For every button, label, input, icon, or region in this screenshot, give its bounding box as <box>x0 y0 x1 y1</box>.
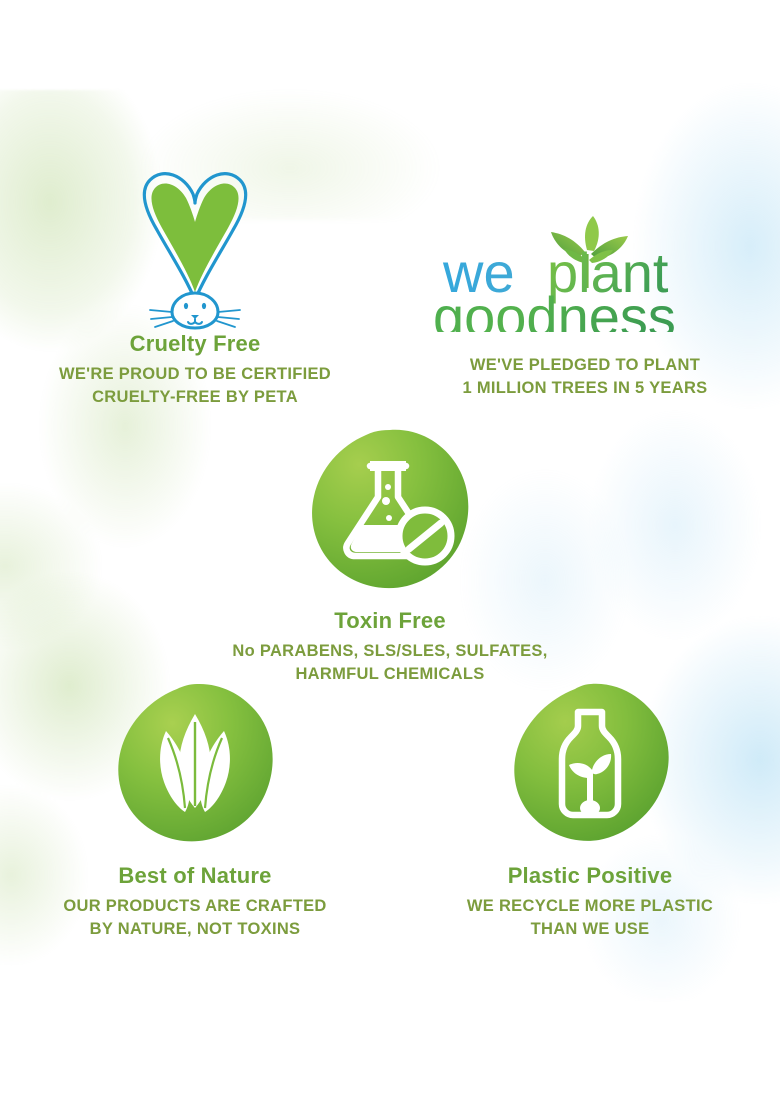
flask-bubble-2 <box>382 497 390 505</box>
watercolor-blob <box>312 430 468 588</box>
watercolor-disc-best-of-nature <box>111 680 279 848</box>
bunny-left-whiskers <box>150 310 173 327</box>
badge-title-toxin-free: Toxin Free <box>195 609 585 633</box>
badge-desc-line-1: WE'VE PLEDGED TO PLANT <box>470 356 700 374</box>
flask-bubble-1 <box>385 484 391 490</box>
flask-no-symbol-icon <box>306 425 474 593</box>
badges-container: Cruelty Free WE'RE PROUD TO BE CERTIFIED… <box>0 0 780 1108</box>
badge-description-best-of-nature: OUR PRODUCTS ARE CRAFTED BY NATURE, NOT … <box>5 895 385 941</box>
watercolor-disc-toxin-free <box>306 425 474 593</box>
badge-best-of-nature: Best of Nature OUR PRODUCTS ARE CRAFTED … <box>5 680 385 941</box>
peta-bunny-heart-icon-wrap <box>0 160 390 332</box>
three-leaves-icon <box>111 680 279 848</box>
badge-desc-line-1: OUR PRODUCTS ARE CRAFTED <box>63 897 326 915</box>
flask-neck-cap <box>370 461 406 471</box>
badge-title-plastic-positive: Plastic Positive <box>400 864 780 888</box>
badge-title-cruelty-free: Cruelty Free <box>0 332 390 356</box>
badge-desc-prefix: No <box>232 642 259 660</box>
bottle-sprout-icon <box>506 680 674 848</box>
bunny-left-eye <box>184 303 188 309</box>
badge-plastic-positive: Plastic Positive WE RECYCLE MORE PLASTIC… <box>400 680 780 941</box>
badge-title-best-of-nature: Best of Nature <box>5 864 385 888</box>
badge-desc-line-2: CRUELTY-FREE BY PETA <box>92 388 298 406</box>
badge-description-toxin-free: No PARABENS, SLS/SLES, SULFATES, HARMFUL… <box>195 640 585 686</box>
we-plant-goodness-logo-wrap: we plant goodness <box>390 210 780 332</box>
badge-desc-line-2: 1 MILLION TREES IN 5 YEARS <box>463 379 708 397</box>
badge-desc-line-1: WE RECYCLE MORE PLASTIC <box>467 897 713 915</box>
peta-bunny-heart-icon <box>110 160 280 332</box>
badge-desc-line-1: WE'RE PROUD TO BE CERTIFIED <box>59 365 331 383</box>
badge-desc-line-2: BY NATURE, NOT TOXINS <box>90 920 301 938</box>
badge-cruelty-free: Cruelty Free WE'RE PROUD TO BE CERTIFIED… <box>0 160 390 409</box>
flask-bubble-3 <box>386 515 392 521</box>
badge-description-cruelty-free: WE'RE PROUD TO BE CERTIFIED CRUELTY-FREE… <box>0 363 390 409</box>
brand-promise-poster: Cruelty Free WE'RE PROUD TO BE CERTIFIED… <box>0 0 780 1108</box>
plastic-positive-icon-wrap <box>400 680 780 848</box>
watercolor-disc-plastic-positive <box>506 680 674 848</box>
sprout-base <box>580 800 600 816</box>
badge-plant-goodness: we plant goodness WE'VE PLEDGED TO PLANT… <box>390 210 780 400</box>
badge-toxin-free: Toxin Free No PARABENS, SLS/SLES, SULFAT… <box>195 425 585 686</box>
badge-description-plastic-positive: WE RECYCLE MORE PLASTIC THAN WE USE <box>400 895 780 941</box>
toxin-free-icon-wrap <box>195 425 585 593</box>
best-of-nature-icon-wrap <box>5 680 385 848</box>
badge-desc-line-2: THAN WE USE <box>531 920 650 938</box>
we-plant-goodness-logo: we plant goodness <box>425 210 745 332</box>
badge-description-plant-goodness: WE'VE PLEDGED TO PLANT 1 MILLION TREES I… <box>390 354 780 400</box>
badge-desc-line-1: PARABENS, SLS/SLES, SULFATES, <box>260 642 548 660</box>
logo-word-goodness: goodness <box>433 285 676 332</box>
bunny-right-whiskers <box>217 310 240 327</box>
bunny-right-eye <box>202 303 206 309</box>
